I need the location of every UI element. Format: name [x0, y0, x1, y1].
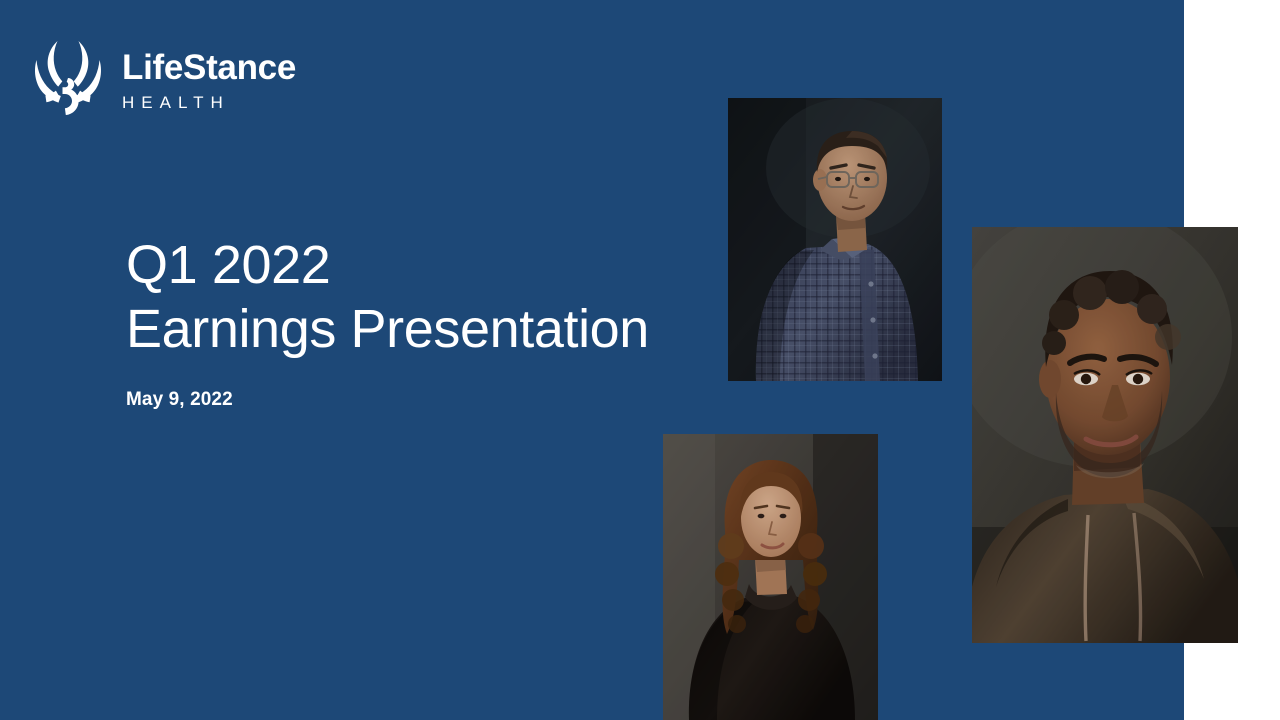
- brand-tagline: HEALTH: [122, 94, 296, 111]
- photo-analyst: [728, 98, 942, 381]
- presentation-date: May 9, 2022: [126, 389, 726, 411]
- page-title-line-1: Q1 2022: [126, 234, 726, 298]
- photo-clinician-image: [972, 227, 1238, 643]
- title-block: Q1 2022 Earnings Presentation May 9, 202…: [126, 234, 726, 411]
- photo-therapist: [663, 434, 878, 720]
- brand-name: LifeStance: [122, 50, 296, 85]
- page-title-line-2: Earnings Presentation: [126, 298, 726, 362]
- lifestance-wings-mark-icon: [26, 38, 110, 118]
- photo-clinician: [972, 227, 1238, 643]
- brand-logo: LifeStance HEALTH: [26, 38, 296, 118]
- presentation-slide: LifeStance HEALTH Q1 2022 Earnings Prese…: [0, 0, 1280, 720]
- brand-wordmark: LifeStance HEALTH: [122, 46, 296, 111]
- photo-analyst-image: [728, 98, 942, 381]
- photo-therapist-image: [663, 434, 878, 720]
